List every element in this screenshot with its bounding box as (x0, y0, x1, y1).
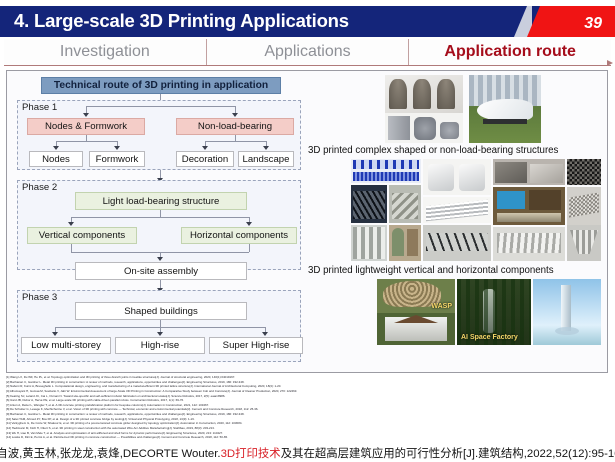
photo-caption-top: 3D printed complex shaped or non-load-be… (308, 145, 600, 156)
source-citation: 左自波,黄玉林,张龙龙,袁烽,DECORTE Wouter.3D打印技术及其在超… (0, 444, 615, 462)
photo-printed-funnel-column (567, 225, 601, 261)
photo-printed-node-details (385, 113, 463, 143)
citation-highlight: 3D打印技术 (221, 445, 281, 461)
phase-3-label: Phase 3 (22, 292, 57, 303)
photo-caption-bottom: 3D printed lightweight vertical and hori… (308, 265, 600, 276)
tab-application-route[interactable]: Application route (409, 39, 611, 65)
photo-printed-stairs (389, 185, 421, 223)
box-horizontal-components[interactable]: Horizontal components (181, 227, 297, 244)
box-low-multi-storey[interactable]: Low multi-storey (21, 337, 111, 354)
arrow-vertical-components (68, 222, 74, 226)
photo-blue-lattice-beams (351, 159, 421, 183)
connector-llbs-stem (160, 210, 161, 217)
tab-progress-arrow-icon (607, 60, 613, 66)
connector-hc-down (249, 244, 250, 252)
photo-printed-bench-interior (493, 187, 565, 225)
box-super-high-rise[interactable]: Super High-rise (209, 337, 303, 354)
box-formwork[interactable]: Formwork (89, 151, 145, 167)
arrow-horizontal-components (246, 222, 252, 226)
photo-printed-truss-beam (423, 225, 491, 261)
page-title: 4. Large-scale 3D Printing Applications (14, 10, 349, 32)
citation-part-2: 及其在超高层建筑应用的可行性分析[J].建筑结构,2022,52(12):95-… (281, 445, 615, 461)
arrow-formwork (114, 146, 120, 150)
photo-printed-waffle-slab (567, 187, 601, 225)
page-number: 39 (584, 15, 602, 33)
flowchart-heading: Technical route of 3D printing in applic… (41, 77, 281, 94)
arrow-super-high-rise (262, 332, 268, 336)
connector-nf-split (56, 141, 117, 142)
photo-printed-ceiling-detail (493, 227, 565, 261)
application-photo-panel: 3D printed complex shaped or non-load-be… (307, 73, 607, 371)
connector-vc-down (71, 244, 72, 252)
section-tab-bar[interactable]: Investigation Applications Application r… (4, 39, 611, 66)
photo-white-printed-panels (423, 159, 491, 195)
box-landscape[interactable]: Landscape (238, 151, 294, 167)
technical-route-flowchart: Technical route of 3D printing in applic… (11, 74, 307, 370)
box-high-rise[interactable]: High-rise (115, 337, 205, 354)
photo-printed-residential-building (377, 313, 455, 345)
arrow-landscape (263, 146, 269, 150)
photo-printed-tree-nodes (385, 75, 463, 113)
photo-printed-columns (351, 225, 387, 261)
box-shaped-buildings[interactable]: Shaped buildings (75, 302, 247, 320)
citation-part-1: 左自波,黄玉林,张龙龙,袁烽,DECORTE Wouter. (0, 445, 221, 461)
phase-2-label: Phase 2 (22, 182, 57, 193)
page-number-badge: 39 (527, 6, 615, 37)
connector-sb-stem (160, 320, 161, 327)
arrow-decoration (202, 146, 208, 150)
reference-item: [14] Lowke D, Dini E, Perrot A, et al. P… (6, 435, 608, 440)
box-vertical-components[interactable]: Vertical components (27, 227, 137, 244)
phase-1-label: Phase 1 (22, 102, 57, 113)
slide-canvas: 4. Large-scale 3D Printing Applications … (0, 0, 615, 462)
photo-ai-space-factory-tower: AI Space Factory (457, 279, 531, 345)
photo-perforated-facade-panel (567, 159, 601, 185)
box-non-load-bearing[interactable]: Non-load-bearing (176, 118, 294, 135)
box-nodes-and-formwork[interactable]: Nodes & Formwork (27, 118, 145, 135)
arrow-on-site-assembly (157, 257, 163, 261)
box-nodes[interactable]: Nodes (29, 151, 83, 167)
connector-nlb-split (205, 141, 266, 142)
connector-llbs-split (71, 217, 249, 218)
photo-printed-skyscraper-render (533, 279, 601, 345)
photo-label-wasp: WASP (431, 303, 452, 310)
arrow-p1-left (83, 113, 89, 117)
photo-printed-wall-niche (389, 225, 421, 261)
tab-applications[interactable]: Applications (207, 39, 410, 65)
connector-p1-split (86, 106, 235, 107)
photo-dark-lattice-structure (351, 185, 387, 223)
box-on-site-assembly[interactable]: On-site assembly (75, 262, 247, 280)
box-light-load-bearing-structure[interactable]: Light load-bearing structure (75, 192, 247, 210)
arrow-p1-right (232, 113, 238, 117)
photo-white-printed-pavilion (469, 75, 541, 143)
tab-investigation[interactable]: Investigation (4, 39, 207, 65)
photo-grey-printed-blocks (493, 159, 565, 185)
arrow-nodes (53, 146, 59, 150)
photo-label-ai-space-factory: AI Space Factory (461, 334, 518, 341)
photo-ribbed-printed-slab (423, 197, 491, 223)
box-decoration[interactable]: Decoration (176, 151, 234, 167)
reference-list: [1] Wang LX, Du WF, He PL, et al. Topolo… (6, 375, 608, 441)
slide-content-frame: Technical route of 3D printing in applic… (6, 70, 608, 373)
arrow-high-rise (157, 332, 163, 336)
arrow-low-multi-storey (52, 332, 58, 336)
